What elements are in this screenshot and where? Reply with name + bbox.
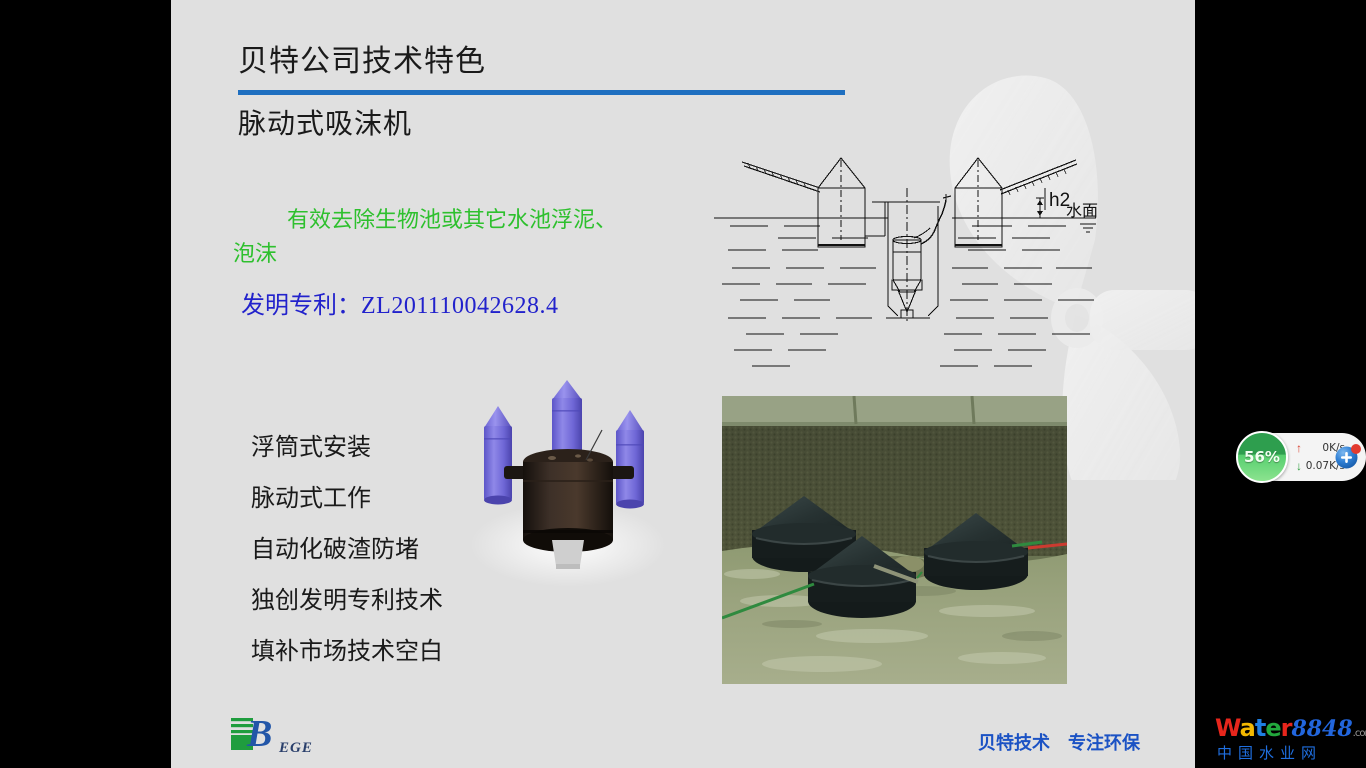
- slide-title: 贝特公司技术特色: [238, 36, 486, 80]
- logo-letter-r: r: [1281, 714, 1292, 742]
- title-divider: [238, 90, 845, 95]
- nozzle: [552, 540, 584, 566]
- list-item: 浮筒式安装: [251, 422, 443, 473]
- water8848-logo[interactable]: Water8848.com 中国水业网: [1199, 712, 1366, 768]
- screen: 贝特公司技术特色 脉动式吸沫机 有效去除生物池或其它水池浮泥、泡沫 发明专利：Z…: [0, 0, 1366, 768]
- lead-paragraph: 有效去除生物池或其它水池浮泥、泡沫: [233, 204, 633, 272]
- logo-letter-a: a: [1240, 714, 1255, 742]
- footer-slogan-right: 专注环保: [1068, 733, 1140, 754]
- machine-body: [523, 449, 613, 552]
- list-item: 填补市场技术空白: [251, 626, 443, 677]
- list-item: 脉动式工作: [251, 473, 443, 524]
- patent-label: 发明专利：: [241, 291, 361, 319]
- patent-line: 发明专利：ZL201110042628.4: [241, 285, 559, 320]
- upload-arrow-icon: ↑: [1293, 442, 1305, 454]
- add-button-icon[interactable]: [1334, 443, 1361, 470]
- list-item: 自动化破渣防堵: [251, 524, 443, 575]
- technical-diagram: h2 水面: [700, 140, 1100, 390]
- float-cylinder-left: [484, 406, 512, 505]
- logo-number: 8848: [1291, 716, 1352, 742]
- footer-slogan-left: 贝特技术: [978, 733, 1050, 754]
- logo-letter-w: W: [1215, 714, 1240, 742]
- logo-chinese-name: 中国水业网: [1217, 742, 1322, 763]
- site-photo: [722, 396, 1067, 684]
- memory-usage-gauge[interactable]: 56%: [1236, 431, 1288, 483]
- memory-usage-percent: 56%: [1244, 448, 1280, 466]
- presentation-slide: 贝特公司技术特色 脉动式吸沫机 有效去除生物池或其它水池浮泥、泡沫 发明专利：Z…: [171, 0, 1195, 768]
- notification-badge-icon: [1351, 444, 1361, 454]
- list-item: 独创发明专利技术: [251, 575, 443, 626]
- product-3d-render: [460, 380, 680, 595]
- bege-logo: B EGE: [225, 704, 335, 758]
- patent-number: ZL201110042628.4: [361, 293, 559, 319]
- bege-wordmark: EGE: [278, 740, 313, 756]
- logo-letter-t: t: [1255, 714, 1265, 742]
- logo-letter-e: e: [1265, 714, 1280, 742]
- footer-slogan: 贝特技术专注环保: [978, 729, 1140, 755]
- float-cylinder-right: [616, 410, 644, 509]
- download-arrow-icon: ↓: [1293, 460, 1305, 472]
- feature-list: 浮筒式安装 脉动式工作 自动化破渣防堵 独创发明专利技术 填补市场技术空白: [251, 422, 443, 677]
- network-speed-widget[interactable]: 56% ↑ 0K/s ↓ 0.07K/s: [1237, 433, 1366, 481]
- slide-subtitle: 脉动式吸沫机: [238, 102, 412, 142]
- bege-letter-b: B: [246, 713, 272, 755]
- logo-tld: .com: [1353, 728, 1366, 739]
- water-surface-label: 水面: [1066, 201, 1098, 220]
